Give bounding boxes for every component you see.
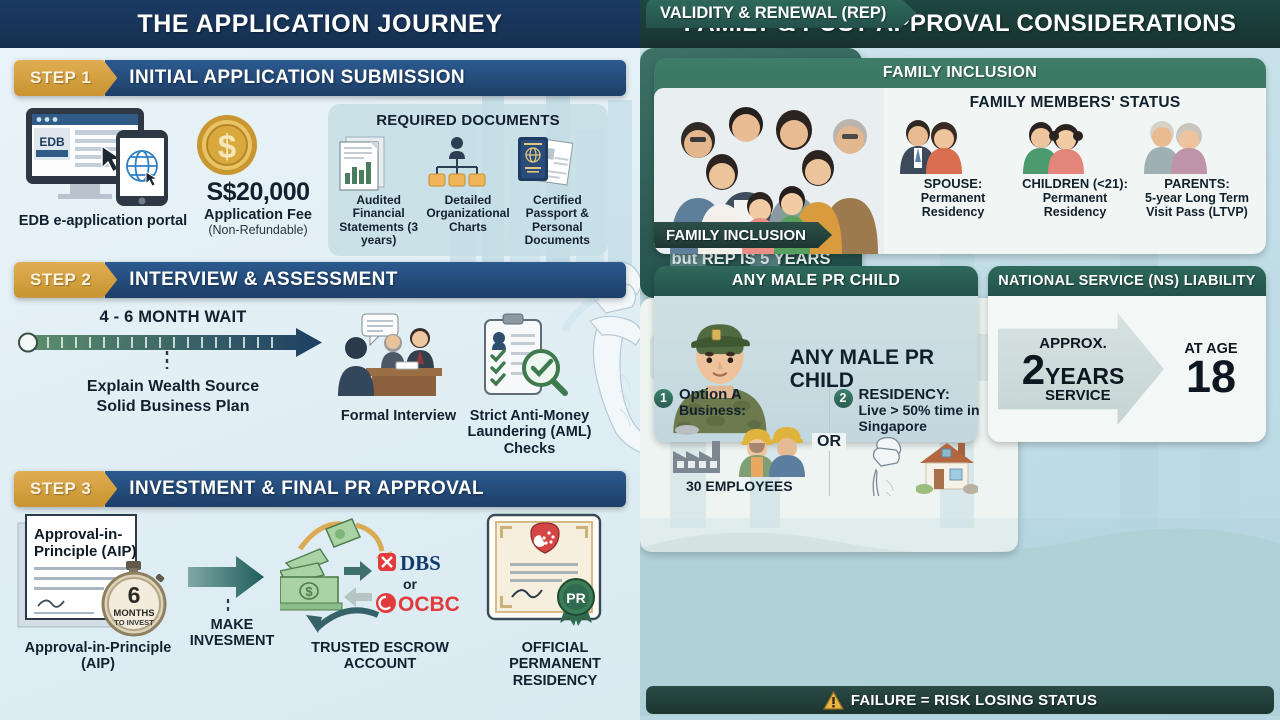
- couple-icon: [892, 116, 968, 174]
- svg-text:$: $: [305, 584, 313, 599]
- right-panel-family-post-approval: FAMILY & POST-APPROVAL CONSIDERATIONS FA…: [640, 0, 1280, 720]
- children-status: Permanent Residency: [1014, 191, 1136, 219]
- financial-report-icon: [336, 133, 390, 191]
- dollar-coin-icon: $: [194, 112, 260, 178]
- step-2-chip: STEP 2: [14, 262, 117, 298]
- family-member-parents: PARENTS: 5-year Long Term Visit Pass (LT…: [1136, 116, 1258, 219]
- document-item: Detailed Organizational Charts: [425, 133, 511, 248]
- interview-panel-icon: [336, 312, 454, 404]
- house-icon: [916, 437, 978, 495]
- parents-status: 5-year Long Term Visit Pass (LTVP): [1136, 191, 1258, 219]
- document-item: Certified Passport & Personal Documents: [514, 133, 600, 248]
- step-1-content: EDB: [0, 96, 640, 256]
- aml-checks-block: Strict Anti-Money Laundering (AML) Check…: [467, 312, 592, 457]
- svg-text:$: $: [218, 128, 236, 165]
- formal-interview-block: Formal Interview: [336, 312, 461, 457]
- male-pr-child-header: ANY MALE PR CHILD: [654, 266, 978, 296]
- step-3-content: Approval-in- Principle (AIP) 6 MONTHS T: [0, 507, 640, 689]
- fee-amount: S$20,000: [194, 178, 322, 207]
- option-2-number: 2: [834, 389, 853, 408]
- clipboard-magnifier-icon: [467, 312, 571, 404]
- svg-text:Approval-in-: Approval-in-: [34, 526, 122, 543]
- step-3-chip: STEP 3: [14, 471, 117, 507]
- option-1-subtitle: Business:: [679, 403, 746, 419]
- svg-text:EDB: EDB: [39, 135, 65, 149]
- option-1-title: Option A: [679, 387, 746, 403]
- option-1-caption: 30 EMPLOYEES: [654, 478, 825, 494]
- option-2-title: RESIDENCY:: [859, 387, 1005, 403]
- spouse-status: Permanent Residency: [892, 191, 1014, 219]
- svg-text:OCBC: OCBC: [398, 593, 460, 616]
- family-inclusion-card: FAMILY INCLUSION: [654, 58, 1266, 254]
- aml-checks-caption: Strict Anti-Money Laundering (AML) Check…: [467, 408, 592, 457]
- national-service-card: NATIONAL SERVICE (NS) LIABILITY APPROX. …: [988, 266, 1266, 442]
- left-panel-header: THE APPLICATION JOURNEY: [0, 0, 640, 48]
- step-3-title: INVESTMENT & FINAL PR APPROVAL: [105, 471, 626, 507]
- family-member-spouse: SPOUSE: Permanent Residency: [892, 116, 1014, 219]
- pr-certificate-caption: OFFICIAL PERMANENT RESIDENCY: [480, 640, 630, 689]
- step-2-content: 4 - 6 MONTH WAIT Explain Wealth Source S…: [0, 298, 640, 457]
- or-divider-label: OR: [812, 433, 846, 451]
- validity-renewal-header: VALIDITY & RENEWAL (REP): [646, 0, 916, 28]
- monitor-icon: EDB: [18, 104, 178, 209]
- fee-label: Application Fee: [194, 207, 322, 223]
- ns-service-label: SERVICE: [1045, 388, 1111, 403]
- step-2-icons: Formal Interview: [336, 304, 592, 457]
- svg-text:DBS: DBS: [400, 551, 441, 575]
- required-documents-title: REQUIRED DOCUMENTS: [334, 112, 602, 129]
- svg-text:or: or: [403, 576, 418, 592]
- step-2-banner: STEP 2 INTERVIEW & ASSESSMENT: [14, 262, 626, 298]
- stopwatch-icon: 6 MONTHS TO INVEST: [96, 559, 172, 637]
- escrow-caption: TRUSTED ESCROW ACCOUNT: [280, 640, 480, 673]
- failure-warning-bar: FAILURE = RISK LOSING STATUS: [646, 686, 1274, 714]
- aip-caption: Approval-in-Principle (AIP): [12, 640, 184, 673]
- warning-triangle-icon: [823, 691, 844, 710]
- family-member-children: CHILDREN (<21): Permanent Residency: [1014, 116, 1136, 219]
- left-panel-application-journey: THE APPLICATION JOURNEY: [0, 0, 640, 720]
- wait-timeline-block: 4 - 6 MONTH WAIT Explain Wealth Source S…: [14, 304, 332, 457]
- document-item: Audited Financial Statements (3 years): [336, 133, 422, 248]
- step-3-banner: STEP 3 INVESTMENT & FINAL PR APPROVAL: [14, 471, 626, 507]
- document-item-caption: Detailed Organizational Charts: [425, 194, 511, 234]
- svg-text:PR: PR: [566, 590, 585, 606]
- svg-text:6: 6: [128, 582, 141, 608]
- renewal-option-1: 1 Option A Business:: [650, 387, 830, 497]
- org-chart-icon: [425, 133, 489, 191]
- elderly-couple-icon: [1136, 116, 1212, 174]
- step-1-title: INITIAL APPLICATION SUBMISSION: [105, 60, 626, 96]
- edb-portal-caption: EDB e-application portal: [18, 213, 188, 229]
- business-plan-note: Solid Business Plan: [14, 397, 332, 417]
- escrow-cash-bank-icon: $ DBS or OCBC: [280, 511, 476, 636]
- left-panel-title: THE APPLICATION JOURNEY: [137, 10, 502, 39]
- fee-sub-label: (Non-Refundable): [194, 223, 322, 237]
- wealth-source-note: Explain Wealth Source: [14, 377, 332, 397]
- formal-interview-caption: Formal Interview: [336, 408, 461, 424]
- infographic-page: THE APPLICATION JOURNEY: [0, 0, 1280, 720]
- children-icon: [1014, 116, 1090, 174]
- parents-role: PARENTS:: [1136, 176, 1258, 191]
- ns-approx-label: APPROX.: [1039, 335, 1107, 352]
- step-1-chip: STEP 1: [14, 60, 117, 96]
- service-duration-arrow: APPROX. 2 YEARS SERVICE: [998, 313, 1164, 425]
- option-2-subtitle: Live > 50% time in Singapore: [859, 403, 1005, 434]
- step-1-banner: STEP 1 INITIAL APPLICATION SUBMISSION: [14, 60, 626, 96]
- family-members-status-title: FAMILY MEMBERS' STATUS: [892, 94, 1258, 112]
- aip-block: Approval-in- Principle (AIP) 6 MONTHS T: [12, 511, 184, 673]
- factory-icon: [669, 423, 731, 475]
- renewal-option-2: 2 RESIDENCY: Live > 50% time in Singapor…: [830, 387, 1009, 497]
- family-inclusion-ribbon: FAMILY INCLUSION: [654, 222, 832, 248]
- step-2-title: INTERVIEW & ASSESSMENT: [105, 262, 626, 298]
- national-service-header: NATIONAL SERVICE (NS) LIABILITY: [988, 266, 1266, 296]
- ns-years-label: YEARS: [1045, 366, 1124, 388]
- ns-age-block: AT AGE 18: [1164, 341, 1258, 398]
- ns-years-number: 2: [1022, 352, 1045, 388]
- ns-age-value: 18: [1164, 357, 1258, 398]
- passport-icon: [514, 133, 576, 191]
- required-documents-box: REQUIRED DOCUMENTS Audited Financial Sta…: [328, 104, 608, 256]
- svg-text:TO INVEST: TO INVEST: [114, 618, 154, 627]
- spouse-role: SPOUSE:: [892, 176, 1014, 191]
- timeline-arrow-icon: [14, 327, 324, 373]
- edb-portal-block: EDB: [18, 104, 188, 229]
- failure-warning-text: FAILURE = RISK LOSING STATUS: [851, 692, 1097, 709]
- application-fee-block: $ S$20,000 Application Fee (Non-Refundab…: [194, 104, 322, 237]
- family-members-status: FAMILY MEMBERS' STATUS SPOUSE: Permanent…: [884, 88, 1266, 254]
- pr-certificate-icon: PR: [480, 511, 610, 636]
- document-item-caption: Certified Passport & Personal Documents: [514, 194, 600, 248]
- national-service-body: APPROX. 2 YEARS SERVICE AT AGE 18: [988, 296, 1266, 442]
- make-investment-block: MAKE INVESMENT: [184, 511, 280, 650]
- family-photo: FAMILY INCLUSION: [654, 88, 884, 254]
- escrow-block: $ DBS or OCBC: [280, 511, 480, 673]
- svg-text:Principle (AIP): Principle (AIP): [34, 543, 137, 560]
- workers-icon: [735, 421, 809, 477]
- merlion-icon: [860, 436, 912, 496]
- family-inclusion-header: FAMILY INCLUSION: [654, 58, 1266, 88]
- make-investment-caption: MAKE INVESMENT: [184, 617, 280, 650]
- arrow-right-icon: [184, 553, 270, 613]
- children-role: CHILDREN (<21):: [1014, 176, 1136, 191]
- document-item-caption: Audited Financial Statements (3 years): [336, 194, 422, 248]
- pr-certificate-block: PR OFFICIAL PERMANENT RESIDENCY: [480, 511, 630, 689]
- option-1-number: 1: [654, 389, 673, 408]
- wait-duration-label: 4 - 6 MONTH WAIT: [14, 308, 332, 327]
